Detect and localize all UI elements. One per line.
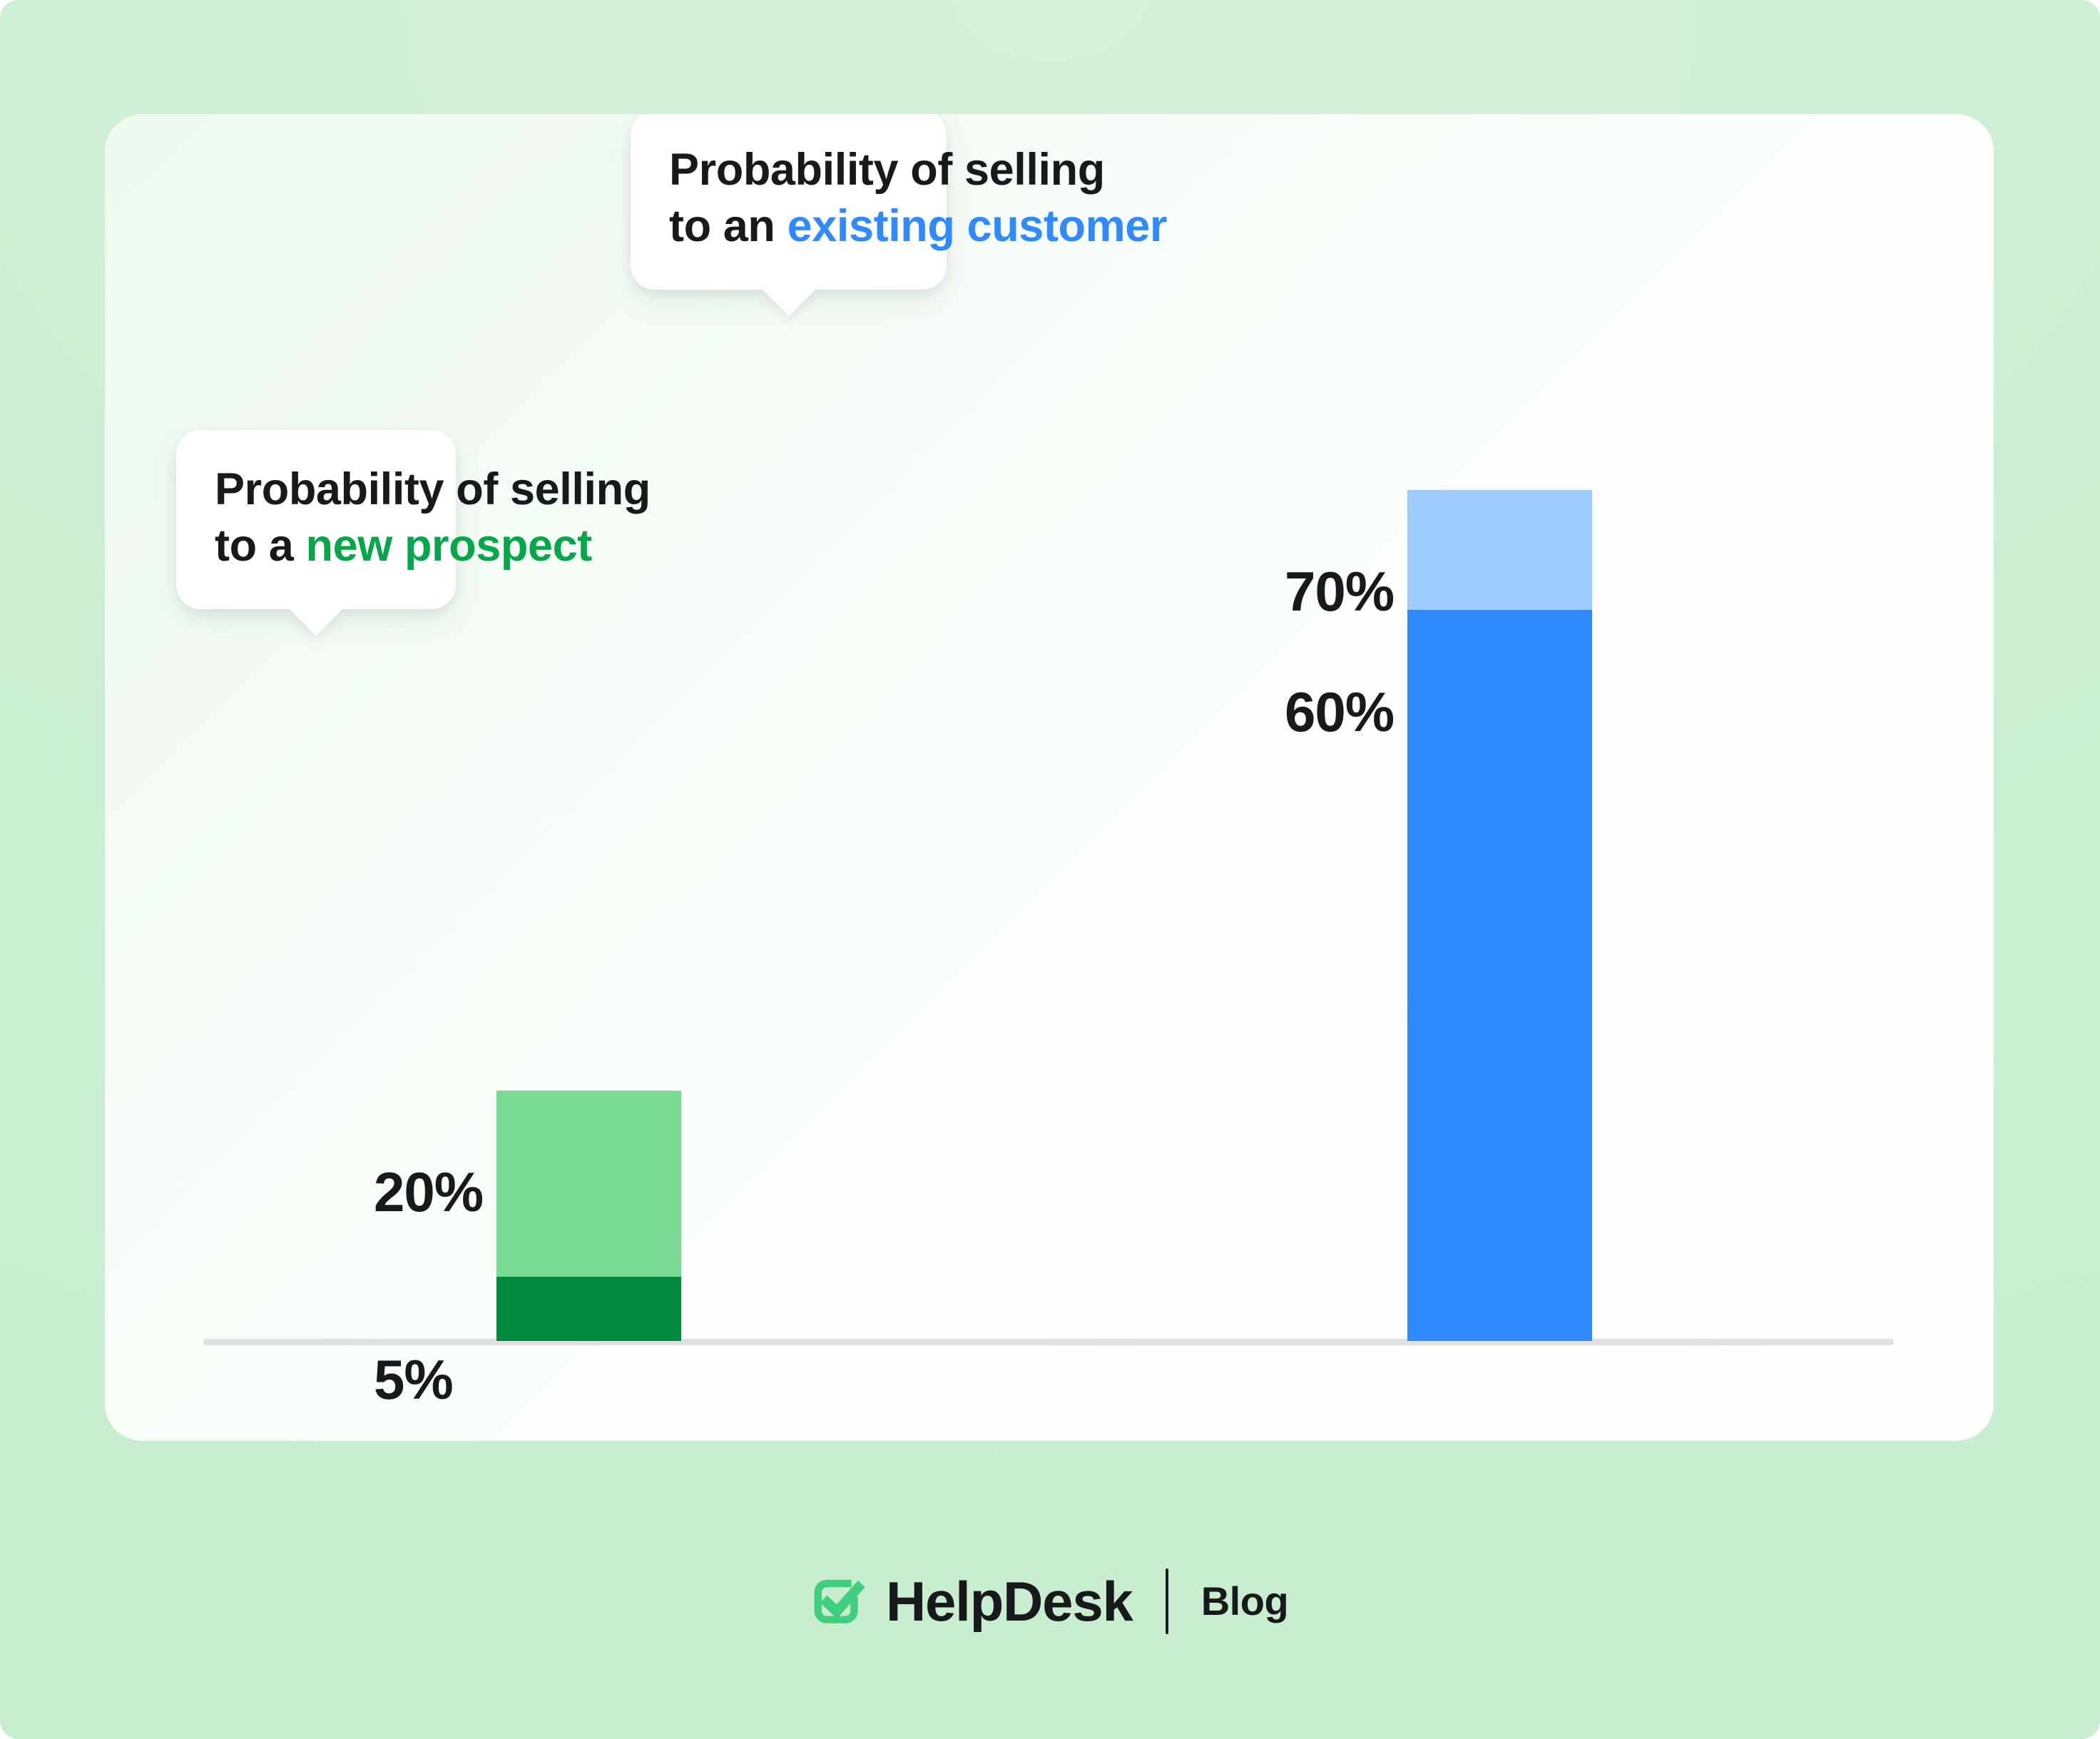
value-label-new-prospect-high: 20%	[374, 1164, 483, 1220]
bar-segment-existing-customer-upper	[1407, 490, 1592, 610]
helpdesk-brand-name: HelpDesk	[886, 1574, 1133, 1629]
tooltip-existing-customer-highlight: existing customer	[787, 201, 1167, 251]
tooltip-existing-customer-tail	[762, 289, 816, 316]
tooltip-new-prospect: Probability of selling to a new prospect	[176, 430, 456, 609]
tooltip-existing-customer-text: Probability of selling to an existing cu…	[669, 142, 908, 255]
tooltip-new-prospect-highlight: new prospect	[306, 521, 592, 571]
tooltip-new-prospect-text: Probability of selling to a new prospect	[215, 461, 417, 575]
bar-segment-new-prospect-lower	[496, 1277, 681, 1341]
tooltip-existing-customer: Probability of selling to an existing cu…	[631, 114, 947, 290]
chart-baseline-axis	[203, 1339, 1894, 1345]
chart-card: 20% 5% Probability of selling to a new p…	[105, 114, 1994, 1441]
footer-section-label[interactable]: Blog	[1201, 1581, 1288, 1621]
value-label-new-prospect-low: 5%	[374, 1352, 453, 1407]
bar-existing-customer[interactable]	[1407, 490, 1592, 1341]
bar-segment-new-prospect-upper	[496, 1091, 681, 1277]
bar-new-prospect[interactable]	[496, 1091, 681, 1341]
footer-divider	[1166, 1569, 1168, 1634]
value-label-existing-customer-high: 70%	[1285, 563, 1394, 619]
tooltip-existing-customer-line2-prefix: to an	[669, 201, 787, 251]
helpdesk-check-icon	[812, 1574, 867, 1629]
helpdesk-logo[interactable]: HelpDesk	[812, 1574, 1133, 1629]
tooltip-new-prospect-line1: Probability of selling	[215, 464, 651, 514]
bar-segment-existing-customer-lower	[1407, 610, 1592, 1341]
tooltip-new-prospect-tail	[289, 608, 343, 636]
footer-branding: HelpDesk Blog	[0, 1541, 2100, 1662]
tooltip-new-prospect-line2-prefix: to a	[215, 521, 306, 571]
infographic-canvas: 20% 5% Probability of selling to a new p…	[0, 0, 2100, 1739]
tooltip-existing-customer-line1: Probability of selling	[669, 145, 1105, 195]
value-label-existing-customer-low: 60%	[1285, 684, 1394, 740]
